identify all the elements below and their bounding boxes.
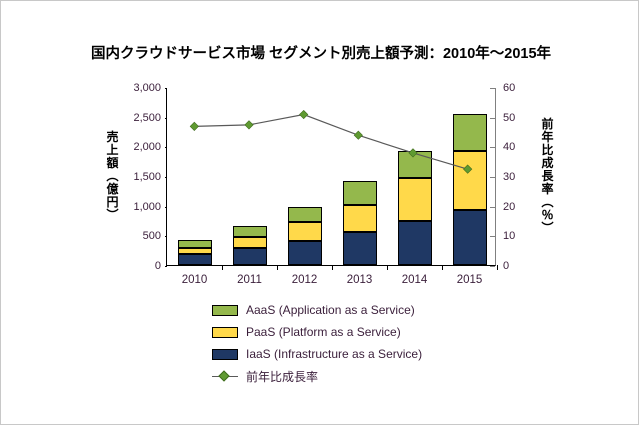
y-tick-label-secondary: 30 xyxy=(503,171,543,183)
bar-segment[interactable] xyxy=(398,178,432,221)
legend-label: IaaS (Infrastructure as a Service) xyxy=(246,347,422,361)
y-tick-label-primary: 0 xyxy=(101,260,161,272)
legend-swatch-icon xyxy=(212,305,238,316)
x-tick xyxy=(497,265,498,270)
y-tick-label-secondary: 20 xyxy=(503,201,543,213)
y-tick-secondary xyxy=(490,147,495,148)
chart-legend: AaaS (Application as a Service)PaaS (Pla… xyxy=(212,299,512,387)
x-tick-label: 2012 xyxy=(292,274,318,286)
bar-segment[interactable] xyxy=(288,222,322,241)
growth-rate-marker[interactable]: 2013: 44% xyxy=(354,131,362,139)
chart-frame: 国内クラウドサービス市場 セグメント別売上額予測：2010年～2015年 売上額… xyxy=(0,0,639,425)
bar-segment[interactable] xyxy=(233,226,267,237)
y-tick-secondary xyxy=(490,88,495,89)
y-tick-label-secondary: 0 xyxy=(503,260,543,272)
y-tick-label-secondary: 40 xyxy=(503,141,543,153)
growth-rate-marker[interactable]: 2010: 47% xyxy=(190,122,198,130)
x-tick xyxy=(222,265,223,270)
y-tick-label-primary: 1,000 xyxy=(101,201,161,213)
y-tick-label-secondary: 60 xyxy=(503,82,543,94)
bar-segment[interactable] xyxy=(343,232,377,265)
bar-segment[interactable] xyxy=(288,241,322,265)
y-tick-secondary xyxy=(490,236,495,237)
x-tick-label: 2011 xyxy=(237,274,262,286)
x-tick xyxy=(277,265,278,270)
bar-segment[interactable] xyxy=(178,240,212,249)
legend-label: 前年比成長率 xyxy=(246,368,318,385)
bar-segment[interactable] xyxy=(343,181,377,205)
bar-segment[interactable] xyxy=(288,207,322,222)
y-tick-label-primary: 1,500 xyxy=(101,171,161,183)
y-tick-secondary xyxy=(490,177,495,178)
y-tick-primary xyxy=(165,236,167,237)
legend-swatch-icon xyxy=(212,327,238,338)
legend-item[interactable]: IaaS (Infrastructure as a Service) xyxy=(212,343,512,365)
legend-swatch-icon xyxy=(212,349,238,360)
bar-segment[interactable] xyxy=(343,205,377,232)
bar-segment[interactable] xyxy=(453,151,487,210)
legend-line-marker-icon xyxy=(212,371,238,382)
x-tick xyxy=(387,265,388,270)
x-tick-label: 2015 xyxy=(457,274,483,286)
growth-rate-marker[interactable]: 2011: 47.5% xyxy=(245,121,253,129)
legend-label: AaaS (Application as a Service) xyxy=(246,303,415,317)
bar-segment[interactable] xyxy=(178,248,212,254)
y-tick-label-primary: 2,000 xyxy=(101,141,161,153)
y-tick-primary xyxy=(165,118,167,119)
y-tick-secondary xyxy=(490,266,495,267)
y-tick-primary xyxy=(165,207,167,208)
y-tick-secondary xyxy=(490,207,495,208)
x-tick xyxy=(442,265,443,270)
bar-segment[interactable] xyxy=(233,248,267,265)
bar-segment[interactable] xyxy=(398,221,432,265)
y-tick-label-primary: 2,500 xyxy=(101,112,161,124)
x-tick-label: 2010 xyxy=(182,274,208,286)
y-tick-primary xyxy=(165,177,167,178)
y-tick-label-primary: 3,000 xyxy=(101,82,161,94)
legend-item[interactable]: PaaS (Platform as a Service) xyxy=(212,321,512,343)
x-tick-label: 2014 xyxy=(402,274,428,286)
bar-segment[interactable] xyxy=(233,237,267,248)
legend-item[interactable]: AaaS (Application as a Service) xyxy=(212,299,512,321)
y-tick-label-secondary: 50 xyxy=(503,112,543,124)
y-tick-primary xyxy=(165,147,167,148)
growth-rate-line-series: 2010: 47%2011: 47.5%2012: 51%2013: 44%20… xyxy=(167,88,495,265)
x-tick xyxy=(332,265,333,270)
legend-item[interactable]: 前年比成長率 xyxy=(212,365,512,387)
bar-segment[interactable] xyxy=(398,151,432,178)
legend-label: PaaS (Platform as a Service) xyxy=(246,325,401,339)
x-tick-label: 2013 xyxy=(347,274,373,286)
y-tick-primary xyxy=(165,88,167,89)
growth-rate-marker[interactable]: 2012: 51% xyxy=(299,110,307,118)
bar-segment[interactable] xyxy=(178,254,212,265)
y-tick-primary xyxy=(165,266,167,267)
bar-segment[interactable] xyxy=(453,114,487,151)
plot-area: 05001,0001,5002,0002,5003,000 0102030405… xyxy=(166,88,496,266)
bar-segment[interactable] xyxy=(453,210,487,265)
chart-title: 国内クラウドサービス市場 セグメント別売上額予測：2010年～2015年 xyxy=(1,42,640,63)
y-tick-label-secondary: 10 xyxy=(503,230,543,242)
y-tick-label-primary: 500 xyxy=(101,230,161,242)
y-tick-secondary xyxy=(490,118,495,119)
